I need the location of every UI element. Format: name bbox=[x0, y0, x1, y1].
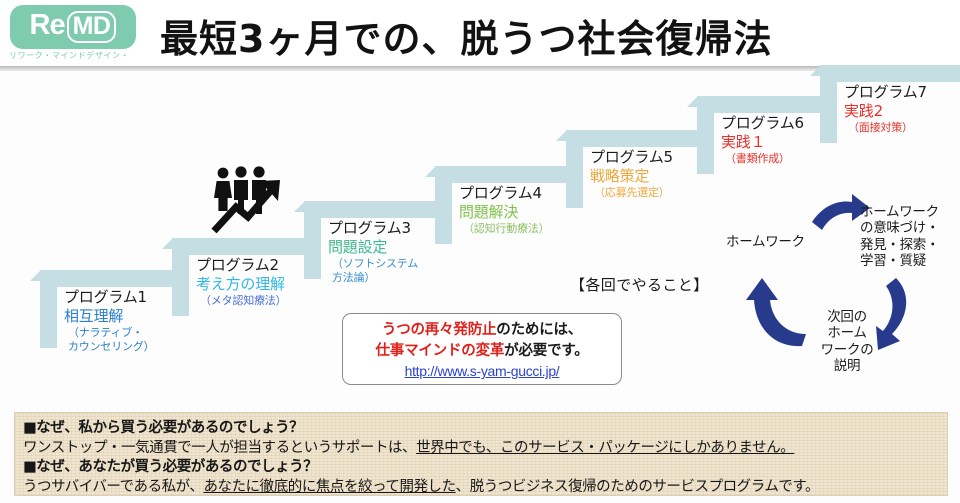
step-program-4[interactable]: プログラム4 問題解決 （認知行動療法） bbox=[425, 166, 575, 244]
logo-subtitle: リワーク・マインドデザイン・ bbox=[9, 50, 142, 61]
slide-canvas: ReMD リワーク・マインドデザイン・ 最短3ヶ月での、脱うつ社会復帰法 プログ… bbox=[0, 0, 960, 503]
step-bar-top bbox=[566, 130, 706, 147]
people-growth-chart-icon bbox=[210, 165, 296, 235]
cycle-label-homework: ホームワーク bbox=[726, 234, 805, 250]
banner-answer-1-plain: ワンストップ・一気通貫で一人が担当するというサポートは、 bbox=[23, 440, 416, 456]
step-bar-left bbox=[435, 166, 452, 244]
callout-rest-2: が必要です。 bbox=[504, 343, 588, 359]
slide-header: ReMD リワーク・マインドデザイン・ 最短3ヶ月での、脱うつ社会復帰法 bbox=[0, 0, 960, 68]
step-program-2[interactable]: プログラム2 考え方の理解 （メタ認知療法） bbox=[162, 238, 312, 316]
banner-answer-2: うつサバイバーである私が、あなたに徹底的に焦点を絞って開発した、脱うつビジネス復… bbox=[23, 478, 941, 498]
banner-answer-2-tail: 、脱うつビジネス復帰のためのサービスプログラムです。 bbox=[456, 479, 819, 495]
callout-highlight-2: 仕事マインドの変革 bbox=[375, 343, 504, 359]
cycle-label-bottom: 次回の ホーム ワークの 説明 bbox=[812, 309, 882, 375]
cycle-right-line-1: ホームワーク bbox=[860, 204, 960, 220]
logo-text-md: MD bbox=[67, 11, 117, 42]
step-program-note: （認知行動療法） bbox=[459, 222, 587, 236]
step-program-5[interactable]: プログラム5 戦略策定 （応募先選定） bbox=[556, 130, 706, 208]
banner-question-1: ■なぜ、私から買う必要があるのでしょう？ bbox=[23, 419, 941, 439]
step-program-note: （応募先選定） bbox=[590, 186, 718, 200]
banner-answer-2-underline: あなたに徹底的に焦点を絞って開発した bbox=[203, 479, 455, 495]
cycle-bottom-line-2: ホーム bbox=[812, 325, 882, 341]
callout-line-2: 仕事マインドの変革が必要です。 bbox=[343, 341, 621, 362]
step-program-7[interactable]: プログラム7 実践2 （面接対策） bbox=[810, 65, 960, 143]
step-bar-left bbox=[697, 96, 714, 174]
cycle-bottom-line-4: 説明 bbox=[812, 358, 882, 374]
step-bar-left bbox=[304, 201, 321, 279]
step-bar-top bbox=[820, 65, 960, 82]
step-bar-left bbox=[172, 238, 189, 316]
step-program-note: （メタ認知療法） bbox=[196, 294, 324, 308]
step-label: プログラム7 実践2 （面接対策） bbox=[844, 83, 960, 135]
cycle-right-line-2: の意味づけ・ bbox=[860, 220, 960, 236]
banner-answer-1-underline: 世界中でも、このサービス・パッケージにしかありません。 bbox=[416, 440, 794, 456]
bottom-banner: ■なぜ、私から買う必要があるのでしょう？ ワンストップ・一気通貫で一人が担当する… bbox=[14, 412, 948, 496]
homework-cycle-diagram: ホームワーク ホームワーク の意味づけ・ 発見・探索・ 学習・質疑 次回の ホー… bbox=[700, 190, 960, 395]
banner-answer-1: ワンストップ・一気通貫で一人が担当するというサポートは、世界中でも、このサービス… bbox=[23, 439, 941, 459]
logo-text-re: Re bbox=[30, 9, 65, 41]
cycle-bottom-line-3: ワークの bbox=[812, 342, 882, 358]
step-program-number: プログラム7 bbox=[844, 83, 960, 102]
step-bar-top bbox=[435, 166, 575, 183]
step-bar-top bbox=[304, 201, 444, 218]
cycle-bottom-line-1: 次回の bbox=[812, 309, 882, 325]
step-bar-left bbox=[40, 270, 57, 348]
step-program-name: 実践2 bbox=[844, 102, 960, 122]
callout-url-link[interactable]: http://www.s-yam-gucci.jp/ bbox=[343, 363, 621, 379]
callout-box: うつの再々発防止のためには、 仕事マインドの変革が必要です。 http://ww… bbox=[342, 313, 622, 385]
step-program-note: （書類作成） bbox=[721, 152, 849, 166]
cycle-right-line-3: 発見・探索・ bbox=[860, 237, 960, 253]
step-bar-left bbox=[566, 130, 583, 208]
callout-rest-1: のためには、 bbox=[496, 322, 582, 338]
step-program-note: （ナラティブ・カウンセリング） bbox=[64, 326, 192, 354]
step-program-1[interactable]: プログラム1 相互理解 （ナラティブ・カウンセリング） bbox=[30, 270, 180, 348]
logo: ReMD リワーク・マインドデザイン・ bbox=[6, 3, 142, 65]
step-program-note: （面接対策） bbox=[844, 121, 960, 135]
banner-answer-2-head: うつサバイバーである私が、 bbox=[23, 479, 203, 495]
step-program-3[interactable]: プログラム3 問題設定 （ソフトシステム方法論） bbox=[294, 201, 444, 279]
page-title: 最短3ヶ月での、脱うつ社会復帰法 bbox=[160, 8, 772, 63]
step-bar-top bbox=[40, 270, 180, 287]
step-bar-left bbox=[820, 65, 837, 143]
cycle-label-right: ホームワーク の意味づけ・ 発見・探索・ 学習・質疑 bbox=[860, 204, 960, 270]
logo-badge: ReMD bbox=[10, 5, 136, 49]
banner-question-2: ■なぜ、あなたが買う必要があるのでしょう？ bbox=[23, 458, 941, 478]
logo-text: ReMD bbox=[30, 11, 117, 42]
step-program-note: （ソフトシステム方法論） bbox=[328, 257, 456, 285]
callout-line-1: うつの再々発防止のためには、 bbox=[343, 320, 621, 341]
cycle-right-line-4: 学習・質疑 bbox=[860, 253, 960, 269]
step-bar-top bbox=[172, 238, 312, 255]
center-note: 【各回でやること】 bbox=[570, 274, 709, 295]
callout-highlight-1: うつの再々発防止 bbox=[382, 322, 496, 338]
